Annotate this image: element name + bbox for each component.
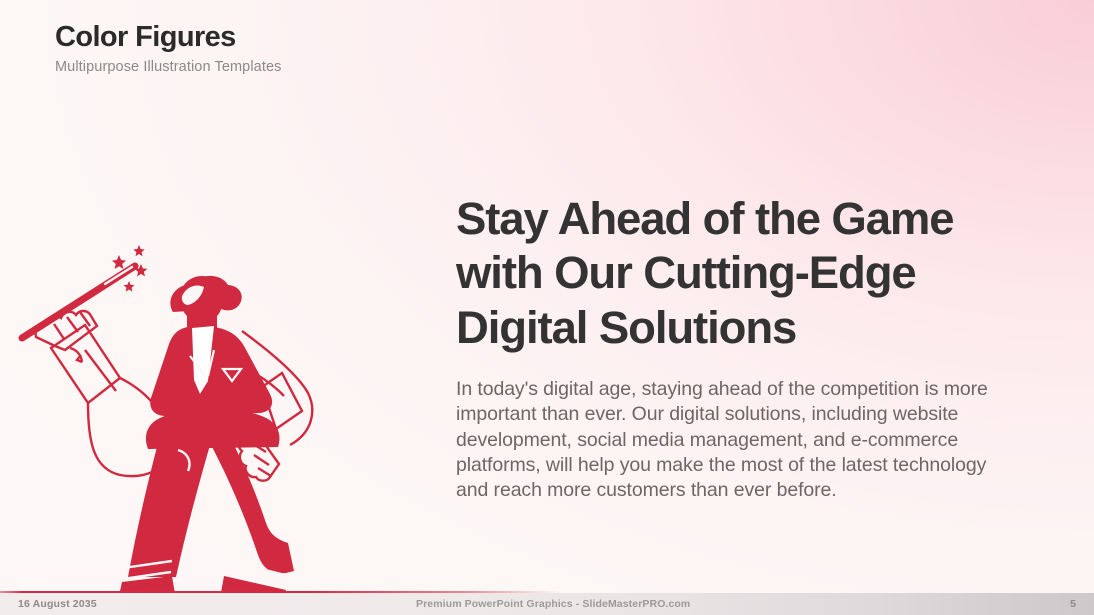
person-back-leg [128,443,210,577]
footer-date: 16 August 2035 [18,598,97,610]
slide-footer: 16 August 2035 Premium PowerPoint Graphi… [0,593,1094,615]
page-title: Color Figures [55,22,281,52]
illustration-container [10,238,360,613]
footer-page-number: 5 [1070,598,1076,610]
main-content: Stay Ahead of the Game with Our Cutting-… [456,192,1016,503]
page-subtitle: Multipurpose Illustration Templates [55,59,281,75]
slide-canvas: Color Figures Multipurpose Illustration … [0,0,1094,615]
headline: Stay Ahead of the Game with Our Cutting-… [456,192,1016,355]
slide-header: Color Figures Multipurpose Illustration … [55,22,281,75]
footer-credit: Premium PowerPoint Graphics - SlideMaste… [416,598,690,610]
person-front-leg [210,441,294,573]
body-paragraph: In today's digital age, staying ahead of… [456,377,1009,503]
person-holding-magic-wand-illustration [10,238,360,613]
